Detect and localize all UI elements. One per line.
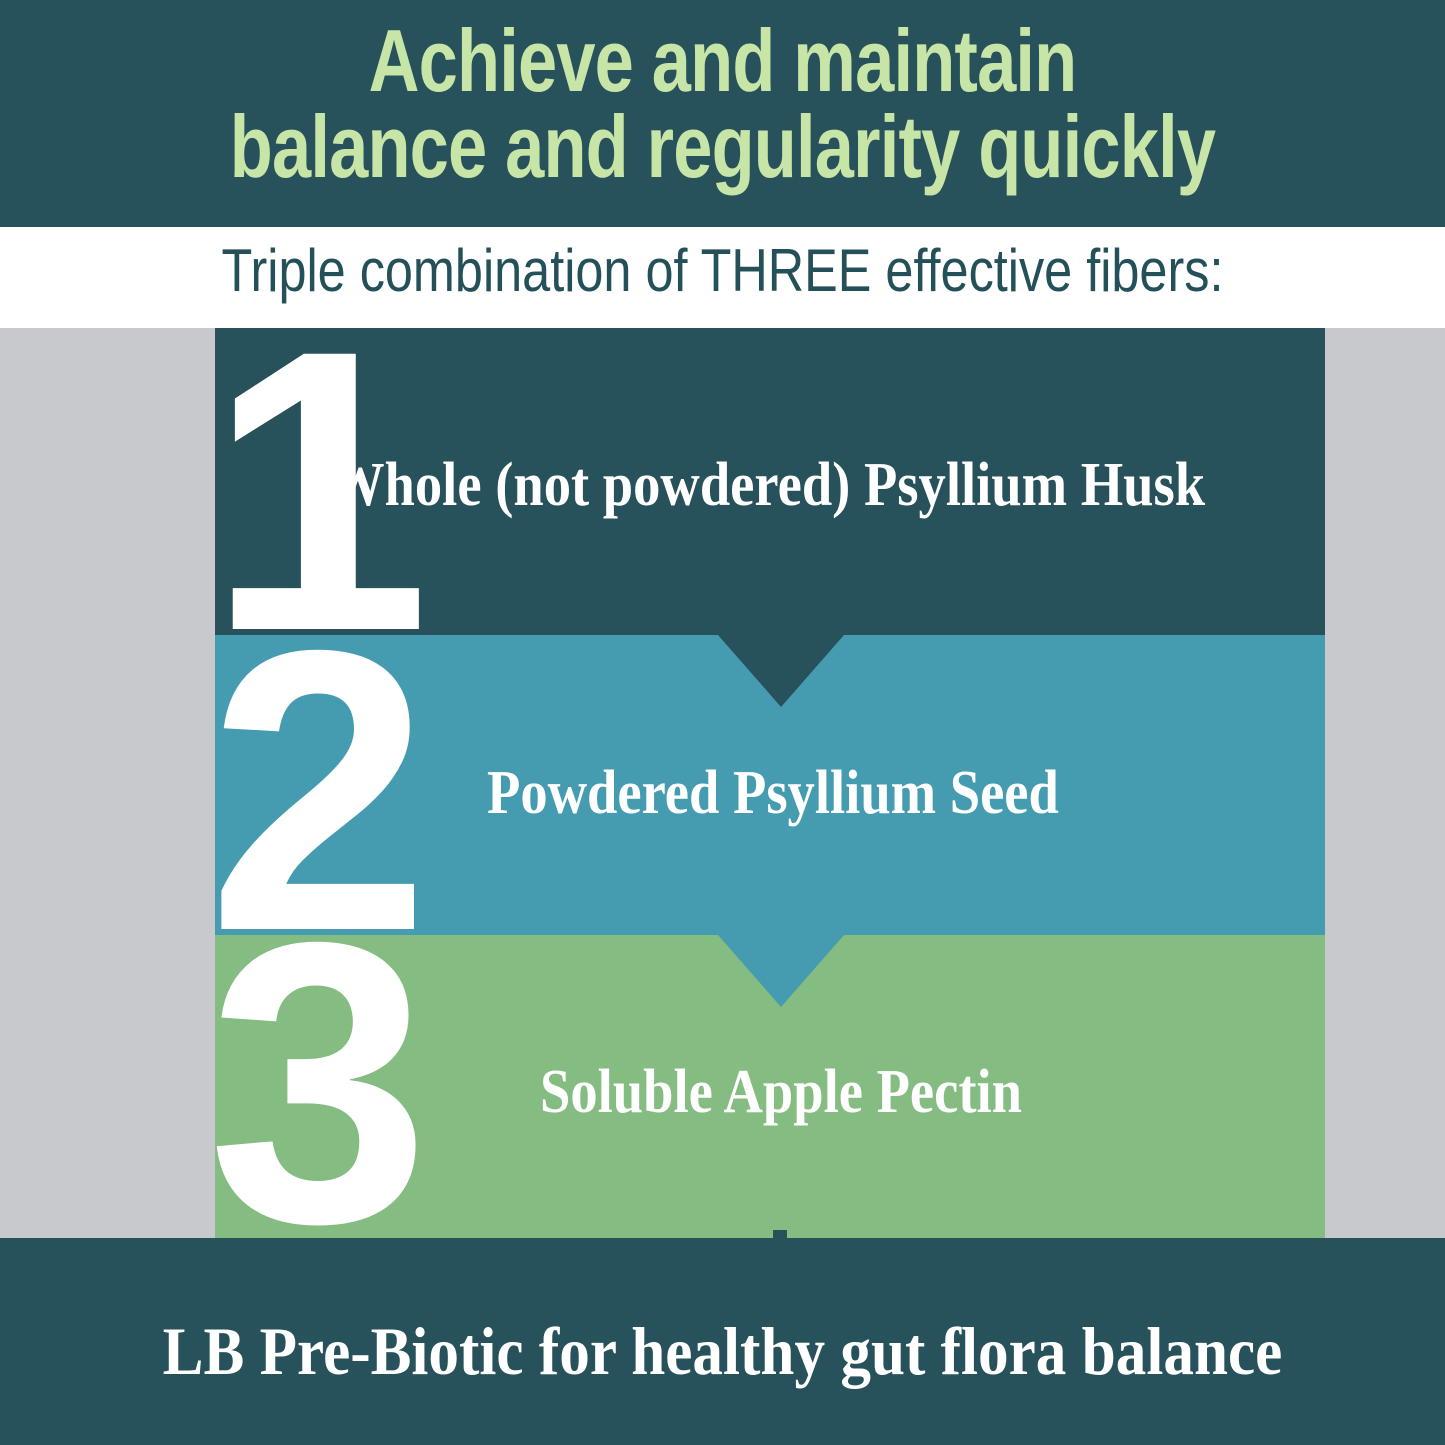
fiber-label-3: Soluble Apple Pectin [540,1061,1022,1123]
fiber-label-1: Whole (not powdered) Psyllium Husk [330,454,1205,516]
plus-icon [757,1230,803,1238]
plus-icon-vertical-bar [773,1230,787,1238]
fiber-label-2: Powdered Psyllium Seed [487,762,1059,824]
page-title: Achieve and maintain balance and regular… [145,18,1301,190]
down-arrow-icon-1 [718,635,844,707]
footer-band: LB Pre-Biotic for healthy gut flora bala… [0,1238,1445,1445]
subtitle-text: Triple combination of THREE effective fi… [116,241,1330,301]
infographic-root: Achieve and maintain balance and regular… [0,0,1445,1445]
fiber-list: 1 1 2 2 3 3 Whole (not powdered) Psylliu… [0,328,1445,1238]
header-band: Achieve and maintain balance and regular… [0,0,1445,227]
down-arrow-icon-2 [718,935,844,1007]
footer-text: LB Pre-Biotic for healthy gut flora bala… [72,1317,1373,1385]
subtitle-band: Triple combination of THREE effective fi… [0,227,1445,328]
